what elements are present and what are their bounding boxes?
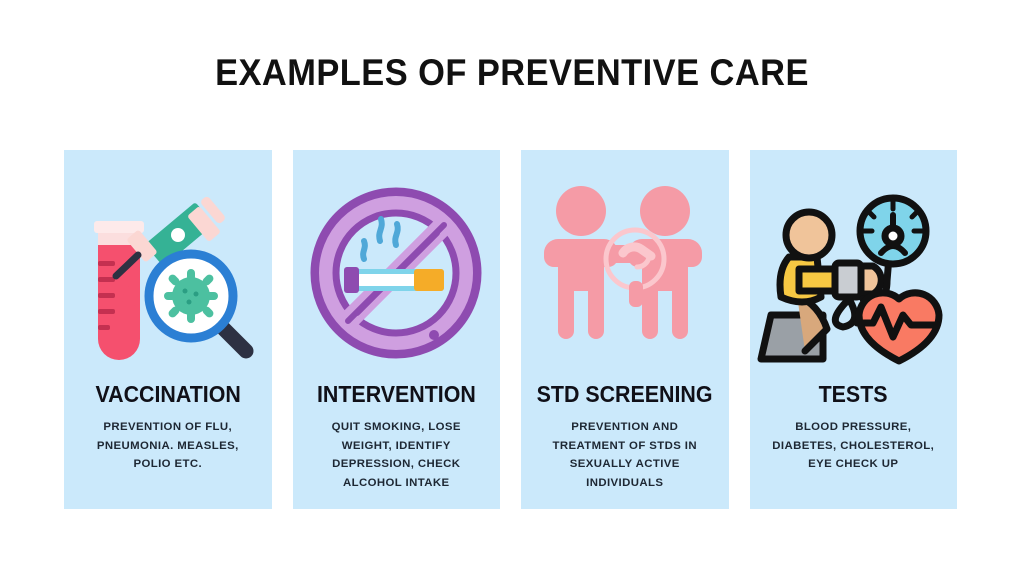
card-vaccination[interactable]: VACCINATION PREVENTION OF FLU, PNEUMONIA… xyxy=(64,150,272,509)
head-icon xyxy=(786,212,832,258)
card-intervention[interactable]: INTERVENTION QUIT SMOKING, LOSE WEIGHT, … xyxy=(293,150,501,509)
card-tests[interactable]: TESTS BLOOD PRESSURE, DIABETES, CHOLESTE… xyxy=(750,150,958,509)
no-smoking-icon xyxy=(293,164,501,382)
card-title: VACCINATION xyxy=(95,382,240,406)
std-screening-icon xyxy=(521,164,729,382)
card-title: STD SCREENING xyxy=(537,382,713,406)
infographic-root: EXAMPLES OF PREVENTIVE CARE xyxy=(0,0,1024,576)
card-title: TESTS xyxy=(819,382,888,406)
page-title: EXAMPLES OF PREVENTIVE CARE xyxy=(36,52,988,94)
card-description: BLOOD PRESSURE, DIABETES, CHOLESTEROL, E… xyxy=(753,418,953,473)
cuff-icon xyxy=(835,263,861,297)
card-title: INTERVENTION xyxy=(317,382,476,406)
card-row: VACCINATION PREVENTION OF FLU, PNEUMONIA… xyxy=(64,150,957,509)
vaccination-icon-svg xyxy=(68,173,268,373)
card-description: QUIT SMOKING, LOSE WEIGHT, IDENTIFY DEPR… xyxy=(296,418,496,492)
vaccination-icon xyxy=(64,164,272,382)
card-std-screening[interactable]: STD SCREENING PREVENTION AND TREATMENT O… xyxy=(521,150,729,509)
std-screening-icon-svg xyxy=(525,173,725,373)
tube-coil xyxy=(836,299,855,327)
health-tests-icon xyxy=(750,164,958,382)
no-smoking-icon-svg xyxy=(296,173,496,373)
cigarette-icon xyxy=(344,267,444,293)
card-description: PREVENTION OF FLU, PNEUMONIA. MEASLES, P… xyxy=(68,418,268,473)
health-tests-icon-svg xyxy=(753,173,953,373)
card-description: PREVENTION AND TREATMENT OF STDS IN SEXU… xyxy=(525,418,725,492)
smoke-wisps-icon xyxy=(363,219,398,259)
magnifier-virus-icon xyxy=(149,254,246,351)
